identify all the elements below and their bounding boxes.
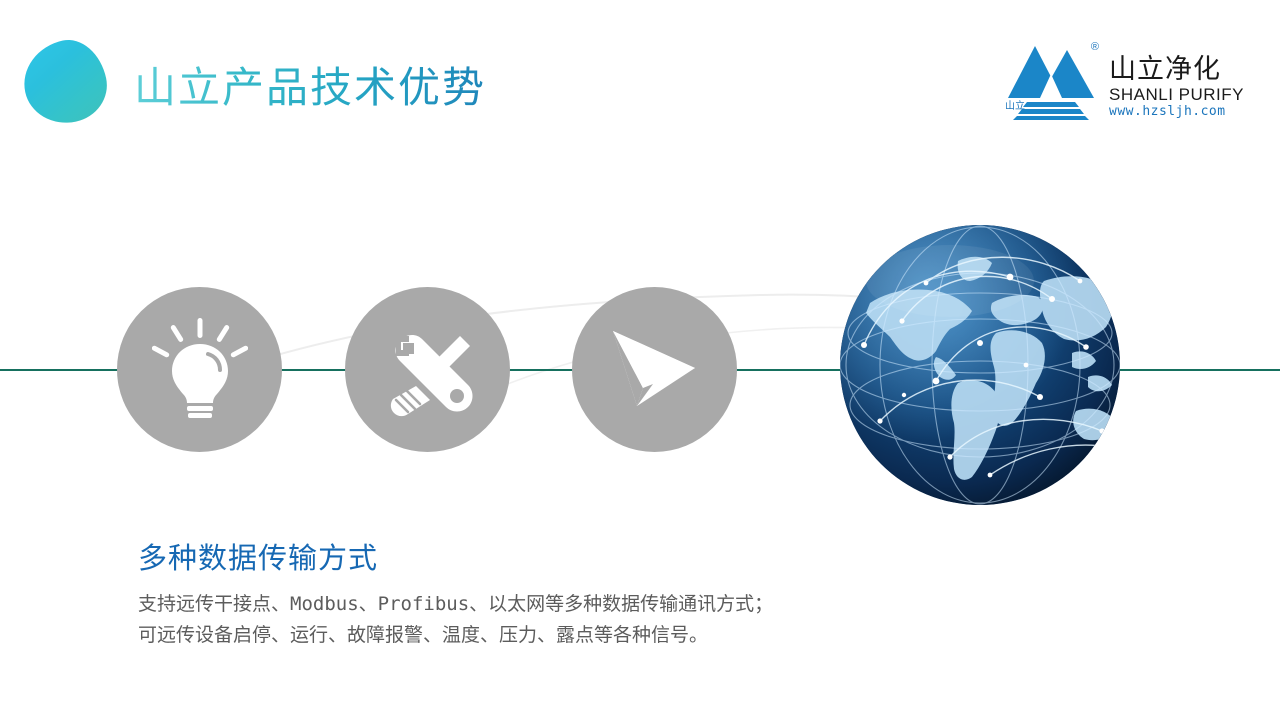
- wrench-screwdriver-icon: [376, 318, 480, 422]
- brand-name-cn: 山立净化: [1109, 55, 1244, 85]
- section-subheading: 多种数据传输方式: [138, 538, 378, 578]
- slide-canvas: 山立产品技术优势 ® 山立 山立净化 SHANLI PURIFY www.hzs…: [0, 0, 1280, 720]
- paragraph-line: 支持远传干接点、Modbus、Profibus、以太网等多种数据传输通讯方式；: [138, 589, 773, 620]
- registered-trademark-icon: ®: [1091, 42, 1099, 53]
- organic-blob-icon: [16, 33, 113, 130]
- feature-circle-tools[interactable]: [345, 287, 510, 452]
- paragraph-line: 可远传设备启停、运行、故障报警、温度、压力、露点等各种信号。: [138, 620, 773, 651]
- brand-website: www.hzsljh.com: [1109, 104, 1244, 120]
- brand-mark-label: 山立: [1005, 97, 1025, 112]
- brand-logo: ® 山立 山立净化 SHANLI PURIFY www.hzsljh.com: [1005, 40, 1244, 124]
- twin-mountain-icon: ® 山立: [1005, 40, 1101, 124]
- feature-circle-send[interactable]: [572, 287, 737, 452]
- feature-circle-lightbulb[interactable]: [117, 287, 282, 452]
- section-paragraph: 支持远传干接点、Modbus、Profibus、以太网等多种数据传输通讯方式； …: [138, 589, 773, 651]
- lightbulb-icon: [152, 318, 248, 422]
- paper-plane-icon: [607, 328, 703, 412]
- network-globe-image: [840, 225, 1120, 505]
- brand-text-block: 山立净化 SHANLI PURIFY www.hzsljh.com: [1109, 40, 1244, 124]
- brand-name-en: SHANLI PURIFY: [1109, 85, 1244, 104]
- page-title: 山立产品技术优势: [134, 60, 486, 116]
